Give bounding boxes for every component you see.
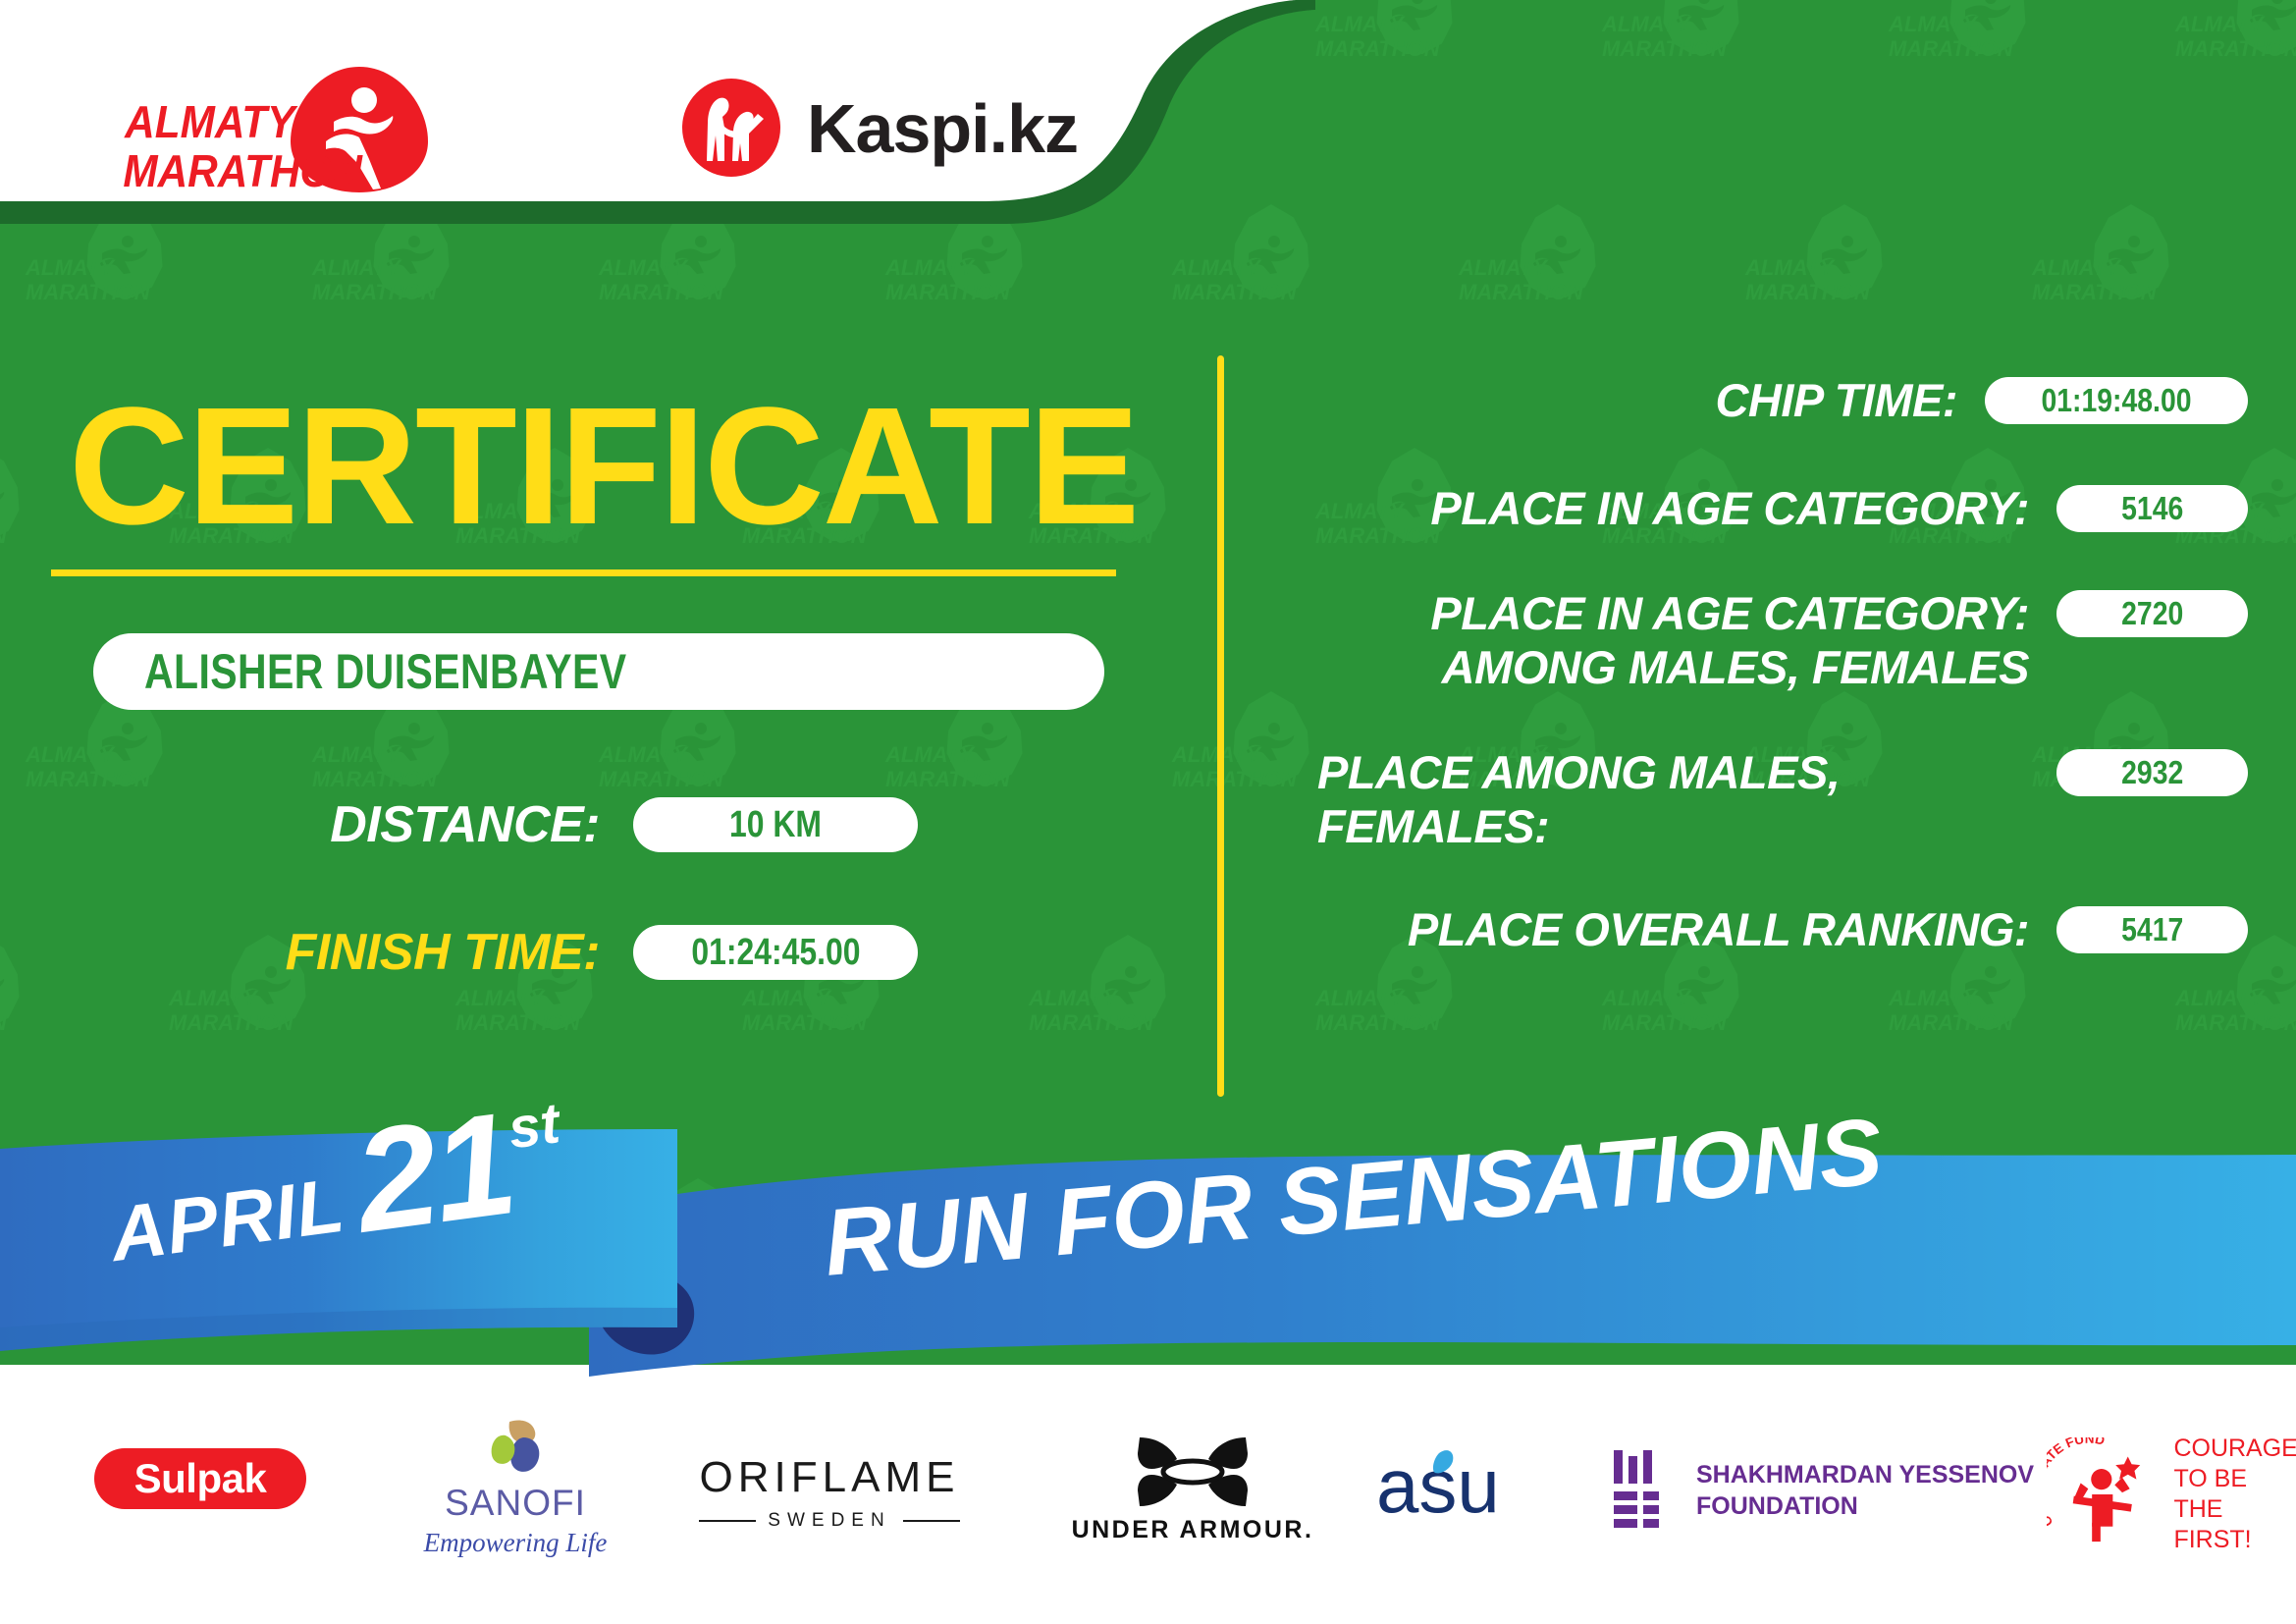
asu-mark-icon: asu [1376,1445,1559,1530]
watermark-tile: ALMATYMARATHON [1315,0,1602,204]
distance-value: 10 KM [729,804,822,846]
place-overall-value: 5417 [2121,911,2183,948]
watermark-runner-icon [1961,964,2016,1005]
watermark-label: ALMATYMARATHON [26,742,153,791]
sanofi-mark-icon [466,1418,564,1479]
watermark-runner-icon [2105,234,2160,275]
ribbon-day-suffix: st [505,1090,563,1162]
watermark-runner-icon [1818,234,1873,275]
finish-time-row: FINISH TIME: 01:24:45.00 [0,923,982,982]
sponsor-corporate-fund: CORPORATE FUND COURAGE TO BE THE FIRST! [2047,1434,2296,1555]
finish-time-value-pill: 01:24:45.00 [633,925,918,980]
watermark-drop-icon [2234,0,2296,55]
watermark-runner-icon [671,721,726,762]
place-among-gender-value: 2932 [2121,754,2183,791]
kaspi-wordmark: Kaspi.kz [807,89,1078,168]
label-line-1: PLACE AMONG MALES, [1317,746,1840,798]
fund-line-3: THE FIRST! [2173,1495,2251,1553]
watermark-runner-icon [385,721,440,762]
svg-text:ALMATY: ALMATY [124,97,297,147]
watermark-runner-icon [98,721,153,762]
watermark-runner-icon [958,721,1013,762]
watermark-label: ALMATYMARATHON [599,742,726,791]
sanofi-wordmark: SANOFI [393,1483,638,1524]
corporate-fund-wordmark: COURAGE TO BE THE FIRST! [2173,1434,2296,1555]
oriflame-country: SWEDEN [768,1510,890,1532]
watermark-runner-icon [1388,0,1443,31]
almaty-marathon-logo: ALMATY MARATHON [116,61,440,198]
label-line-2: AMONG MALES, FEMALES [1442,641,2029,693]
sanofi-tagline: Empowering Life [393,1528,638,1558]
runner-name-field: ALISHER DUISENBAYEV [93,633,1104,710]
place-age-category-label: PLACE IN AGE CATEGORY: [1266,481,2056,535]
yessenov-mark-icon [1610,1448,1675,1533]
stat-row-place-age-category-gender: PLACE IN AGE CATEGORY: AMONG MALES, FEMA… [1266,586,2248,694]
sulpak-wordmark: Sulpak [134,1455,267,1502]
svg-text:MARATHON: MARATHON [123,146,363,196]
watermark-label: ALMATYMARATHON [1602,986,1730,1035]
place-among-gender-label: PLACE AMONG MALES, FEMALES: [1266,745,2056,853]
watermark-drop-icon [1804,204,1885,298]
oriflame-rule-right [903,1520,960,1522]
label-line-2: FEMALES: [1317,800,1549,852]
sponsor-under-armour: UNDER ARMOUR. [1070,1434,1315,1544]
watermark-label: ALMATYMARATHON [0,499,10,548]
watermark-label: ALMATYMARATHON [742,986,870,1035]
watermark-runner-icon [1675,964,1730,1005]
watermark-label: ALMATYMARATHON [455,986,583,1035]
stat-row-chip-time: CHIP TIME: 01:19:48.00 [1266,373,2248,427]
fund-line-1: COURAGE [2173,1435,2296,1462]
under-armour-wordmark: UNDER ARMOUR. [1070,1516,1315,1544]
watermark-drop-icon [1518,204,1598,298]
place-among-gender-value-pill: 2932 [2056,749,2248,796]
finish-time-label: FINISH TIME: [0,923,633,982]
sponsor-oriflame: ORIFLAME SWEDEN [687,1453,972,1532]
watermark-label: ALMATYMARATHON [885,742,1013,791]
oriflame-wordmark: ORIFLAME [687,1453,972,1502]
watermark-label: ALMATYMARATHON [2032,255,2160,304]
fund-line-2: TO BE [2173,1465,2247,1492]
title-underline [51,569,1116,576]
chip-time-label: CHIP TIME: [1266,373,1985,427]
watermark-tile: ALMATYMARATHON [2175,0,2296,204]
sponsor-asu: asu [1364,1445,1571,1530]
certificate-page: ALMATYMARATHONALMATYMARATHONALMATYMARATH… [0,0,2296,1624]
watermark-label: ALMATYMARATHON [1889,986,2016,1035]
place-age-category-gender-value-pill: 2720 [2056,590,2248,637]
runner-name: ALISHER DUISENBAYEV [144,643,627,700]
kaspi-logo: Kaspi.kz [677,77,1090,180]
yessenov-line-2: FOUNDATION [1696,1492,1858,1520]
watermark-label: ALMATYMARATHON [169,986,296,1035]
place-overall-label: PLACE OVERALL RANKING: [1266,902,2056,956]
label-line-1: PLACE IN AGE CATEGORY: [1430,587,2029,639]
distance-label: DISTANCE: [0,795,633,854]
watermark-runner-icon [1961,0,2016,31]
watermark-runner-icon [0,477,10,518]
place-age-category-value: 5146 [2121,490,2183,527]
corporate-fund-mark-icon: CORPORATE FUND [2047,1437,2160,1551]
watermark-tile: ALMATYMARATHON [1889,0,2175,204]
watermark-label: ALMATYMARATHON [1315,12,1443,61]
watermark-tile: ALMATYMARATHON [1602,0,1889,204]
watermark-label: ALMATYMARATHON [2175,12,2296,61]
watermark-label: ALMATYMARATHON [2175,986,2296,1035]
watermark-drop-icon [0,448,22,542]
sponsor-shakhmardan-yessenov-foundation: SHAKHMARDAN YESSENOV FOUNDATION [1610,1448,2034,1533]
watermark-label: ALMATYMARATHON [1602,12,1730,61]
watermark-drop-icon [1661,0,1741,55]
finish-time-value: 01:24:45.00 [691,932,860,974]
yessenov-wordmark: SHAKHMARDAN YESSENOV FOUNDATION [1696,1459,2034,1522]
yessenov-line-1: SHAKHMARDAN YESSENOV [1696,1461,2034,1489]
chip-time-value: 01:19:48.00 [2041,382,2191,419]
distance-row: DISTANCE: 10 KM [0,795,982,854]
watermark-runner-icon [2248,477,2296,518]
oriflame-rule-left [699,1520,756,1522]
sponsor-sanofi: SANOFI Empowering Life [393,1418,638,1558]
page-title: CERTIFICATE [69,383,1138,550]
watermark-label: ALMATYMARATHON [0,986,10,1035]
ribbon-day: 21 [347,1095,520,1252]
place-age-category-gender-value: 2720 [2121,595,2183,632]
watermark-drop-icon [2091,204,2171,298]
stats-panel: CHIP TIME: 01:19:48.00 PLACE IN AGE CATE… [1266,373,2248,956]
chip-time-value-pill: 01:19:48.00 [1985,377,2248,424]
watermark-runner-icon [1675,0,1730,31]
place-age-category-value-pill: 5146 [2056,485,2248,532]
kaspi-mark-icon [677,77,785,180]
under-armour-mark-icon [1132,1434,1254,1510]
oriflame-sub-wrap: SWEDEN [687,1510,972,1532]
watermark-label: ALMATYMARATHON [1889,12,2016,61]
sponsors-footer: Sulpak SANOFI Empowering Life ORIFLAME S… [0,1394,2296,1624]
sulpak-logo: Sulpak [94,1448,306,1509]
watermark-label: ALMATYMARATHON [312,742,440,791]
watermark-drop-icon [1948,0,2028,55]
stat-row-place-overall: PLACE OVERALL RANKING: 5417 [1266,902,2248,956]
vertical-divider [1217,355,1224,1097]
place-overall-value-pill: 5417 [2056,906,2248,953]
watermark-runner-icon [1388,964,1443,1005]
stat-row-place-among-gender: PLACE AMONG MALES, FEMALES: 2932 [1266,745,2248,853]
watermark-runner-icon [1531,234,1586,275]
watermark-label: ALMATYMARATHON [1315,986,1443,1035]
watermark-drop-icon [1088,935,1168,1029]
watermark-runner-icon [1101,964,1156,1005]
watermark-label: ALMATYMARATHON [1029,986,1156,1035]
place-age-category-gender-label: PLACE IN AGE CATEGORY: AMONG MALES, FEMA… [1266,586,2056,694]
watermark-runner-icon [2248,964,2296,1005]
watermark-runner-icon [2248,0,2296,31]
watermark-label: ALMATYMARATHON [1459,255,1586,304]
distance-value-pill: 10 KM [633,797,918,852]
watermark-label: ALMATYMARATHON [1745,255,1873,304]
stat-row-place-age-category: PLACE IN AGE CATEGORY: 5146 [1266,481,2248,535]
sponsor-sulpak: Sulpak [94,1448,306,1509]
watermark-drop-icon [1374,0,1455,55]
